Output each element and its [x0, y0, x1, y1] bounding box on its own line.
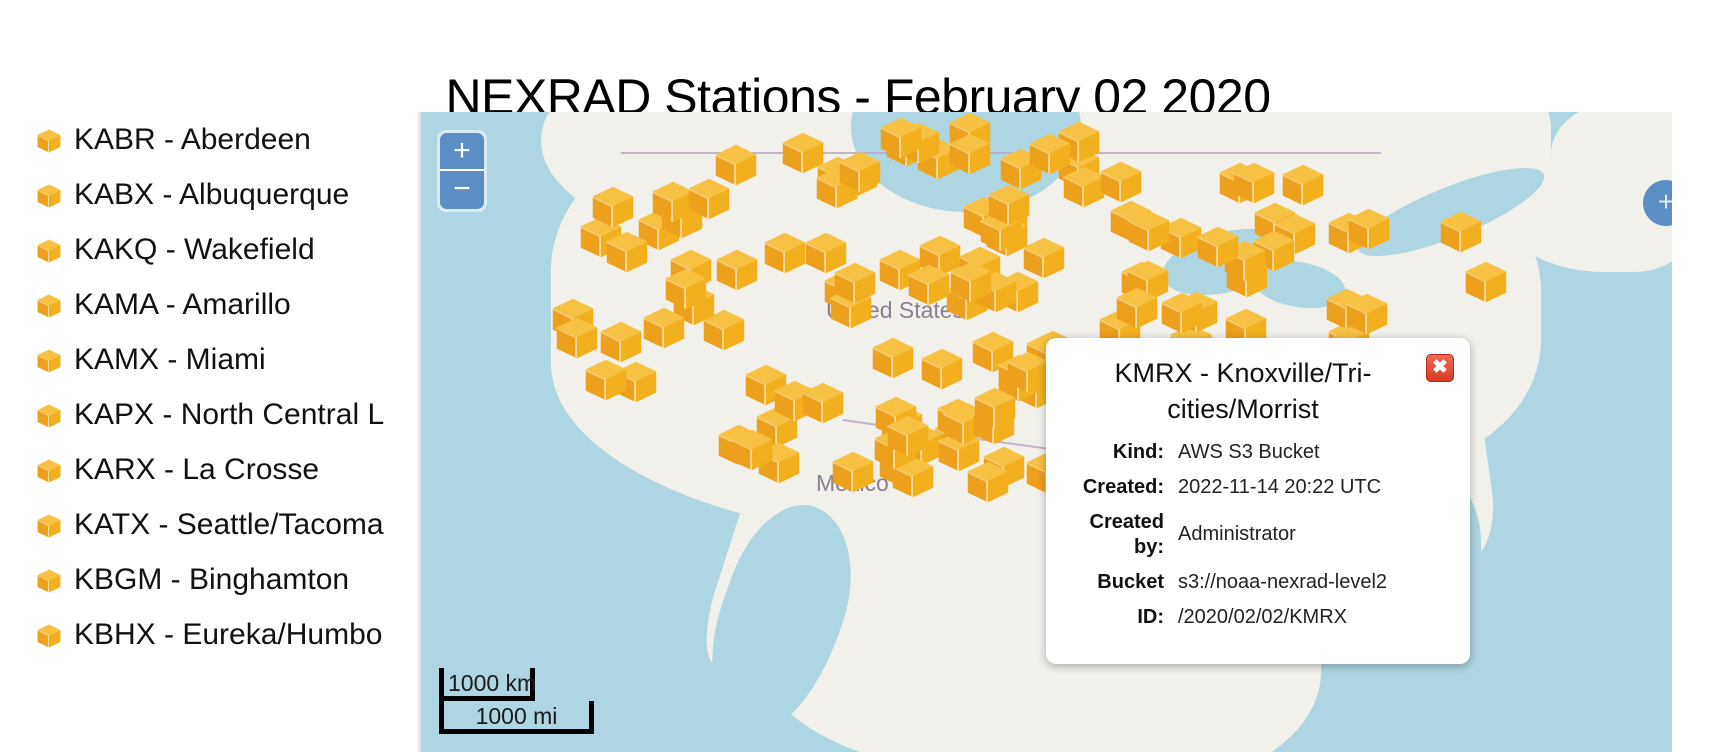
- close-icon[interactable]: ✖: [1426, 354, 1454, 382]
- map-marker-s3-bucket-icon[interactable]: [1438, 209, 1484, 255]
- map-marker-s3-bucket-icon[interactable]: [590, 184, 636, 230]
- map-marker-s3-bucket-icon[interactable]: [830, 449, 876, 495]
- s3-bucket-icon: [36, 183, 62, 209]
- map-marker-s3-bucket-icon[interactable]: [780, 130, 826, 176]
- station-list-item[interactable]: KAKQ - Wakefield: [0, 222, 418, 277]
- station-list-item-label: KBGM - Binghamton: [74, 565, 349, 595]
- popup-detail-value: AWS S3 Bucket: [1178, 440, 1448, 465]
- s3-bucket-icon: [36, 568, 62, 594]
- map-marker-s3-bucket-icon[interactable]: [1280, 162, 1326, 208]
- s3-bucket-icon: [36, 403, 62, 429]
- map-marker-s3-bucket-icon[interactable]: [885, 413, 931, 459]
- zoom-control: + −: [437, 130, 487, 212]
- station-list-item[interactable]: KATX - Seattle/Tacoma: [0, 497, 418, 552]
- popup-detail-key: Created:: [1068, 475, 1178, 500]
- map-marker-s3-bucket-icon[interactable]: [1098, 159, 1144, 205]
- scale-bar-km: 1000 km: [439, 668, 535, 701]
- app-root: NEXRAD Stations - February 02 2020 KABR …: [0, 0, 1716, 752]
- popup-detail-rows: Kind:AWS S3 BucketCreated:2022-11-14 20:…: [1068, 440, 1448, 630]
- s3-bucket-icon: [36, 238, 62, 264]
- map-marker-s3-bucket-icon[interactable]: [906, 262, 952, 308]
- popup-detail-row: ID:/2020/02/02/KMRX: [1068, 605, 1448, 630]
- map-marker-s3-bucket-icon[interactable]: [948, 259, 994, 305]
- s3-bucket-icon: [36, 348, 62, 374]
- station-list-sidebar[interactable]: KABR - AberdeenKABX - AlbuquerqueKAKQ - …: [0, 112, 418, 752]
- popup-detail-row: Created:2022-11-14 20:22 UTC: [1068, 475, 1448, 500]
- station-list-item-label: KARX - La Crosse: [74, 455, 319, 485]
- map-marker-s3-bucket-icon[interactable]: [1346, 206, 1392, 252]
- map-marker-s3-bucket-icon[interactable]: [878, 115, 924, 161]
- map-canvas[interactable]: United States México + − + 1000 km 1000 …: [418, 112, 1672, 752]
- map-marker-s3-bucket-icon[interactable]: [1195, 224, 1241, 270]
- station-list-item-label: KAMA - Amarillo: [74, 290, 291, 320]
- map-right-gutter: [1672, 112, 1716, 752]
- station-list-item[interactable]: KAMX - Miami: [0, 332, 418, 387]
- station-list-item-label: KAKQ - Wakefield: [74, 235, 315, 265]
- station-list-item-label: KABR - Aberdeen: [74, 125, 311, 155]
- zoom-out-button[interactable]: −: [440, 171, 484, 209]
- popup-detail-key: Bucket: [1068, 570, 1178, 595]
- station-list-item-label: KBHX - Eureka/Humbo: [74, 620, 382, 650]
- map-marker-s3-bucket-icon[interactable]: [1114, 285, 1160, 331]
- map-marker-s3-bucket-icon[interactable]: [947, 131, 993, 177]
- station-list-item-label: KATX - Seattle/Tacoma: [74, 510, 384, 540]
- map-marker-s3-bucket-icon[interactable]: [1231, 160, 1277, 206]
- map-marker-s3-bucket-icon[interactable]: [554, 315, 600, 361]
- scale-bar-mi: 1000 mi: [439, 701, 594, 734]
- map-marker-s3-bucket-icon[interactable]: [972, 385, 1018, 431]
- station-detail-popup: ✖ KMRX - Knoxville/Tri-cities/Morrist Ki…: [1046, 338, 1470, 664]
- map-marker-s3-bucket-icon[interactable]: [803, 230, 849, 276]
- map-marker-s3-bucket-icon[interactable]: [986, 182, 1032, 228]
- map-marker-s3-bucket-icon[interactable]: [686, 176, 732, 222]
- scale-bar-km-label: 1000 km: [448, 670, 536, 696]
- popup-detail-row: Created by:Administrator: [1068, 510, 1448, 560]
- popup-detail-row: Buckets3://noaa-nexrad-level2: [1068, 570, 1448, 595]
- s3-bucket-icon: [36, 128, 62, 154]
- map-marker-s3-bucket-icon[interactable]: [583, 357, 629, 403]
- station-list-item[interactable]: KAPX - North Central L: [0, 387, 418, 442]
- map-marker-s3-bucket-icon[interactable]: [714, 247, 760, 293]
- map-marker-s3-bucket-icon[interactable]: [1126, 208, 1172, 254]
- station-list-item-label: KAMX - Miami: [74, 345, 266, 375]
- station-list-item[interactable]: KABX - Albuquerque: [0, 167, 418, 222]
- station-list-item-label: KAPX - North Central L: [74, 400, 384, 430]
- station-list-item[interactable]: KAMA - Amarillo: [0, 277, 418, 332]
- popup-detail-key: ID:: [1068, 605, 1178, 630]
- map-marker-s3-bucket-icon[interactable]: [663, 266, 709, 312]
- station-list-item[interactable]: KARX - La Crosse: [0, 442, 418, 497]
- station-list-item[interactable]: KBHX - Eureka/Humbo: [0, 607, 418, 662]
- popup-title: KMRX - Knoxville/Tri-cities/Morrist: [1068, 356, 1448, 428]
- map-marker-s3-bucket-icon[interactable]: [919, 346, 965, 392]
- map-marker-s3-bucket-icon[interactable]: [870, 335, 916, 381]
- s3-bucket-icon: [36, 513, 62, 539]
- popup-detail-value: s3://noaa-nexrad-level2: [1178, 570, 1448, 595]
- station-list-item[interactable]: KBGM - Binghamton: [0, 552, 418, 607]
- map-marker-s3-bucket-icon[interactable]: [965, 459, 1011, 505]
- map-marker-s3-bucket-icon[interactable]: [762, 230, 808, 276]
- s3-bucket-icon: [36, 293, 62, 319]
- popup-detail-row: Kind:AWS S3 Bucket: [1068, 440, 1448, 465]
- s3-bucket-icon: [36, 623, 62, 649]
- popup-detail-value: 2022-11-14 20:22 UTC: [1178, 475, 1448, 500]
- s3-bucket-icon: [36, 458, 62, 484]
- scale-bar-mi-label: 1000 mi: [476, 703, 558, 729]
- popup-detail-value: /2020/02/02/KMRX: [1178, 605, 1448, 630]
- popup-detail-key: Created by:: [1068, 510, 1178, 560]
- map-marker-s3-bucket-icon[interactable]: [800, 380, 846, 426]
- zoom-in-button[interactable]: +: [440, 133, 484, 171]
- station-list-item-label: KABX - Albuquerque: [74, 180, 349, 210]
- map-marker-s3-bucket-icon[interactable]: [1463, 259, 1509, 305]
- station-list-item[interactable]: KABR - Aberdeen: [0, 112, 418, 167]
- scale-bar: 1000 km 1000 mi: [439, 668, 594, 734]
- map-marker-s3-bucket-icon[interactable]: [641, 305, 687, 351]
- map-marker-s3-bucket-icon[interactable]: [837, 149, 883, 195]
- popup-detail-value: Administrator: [1178, 522, 1448, 547]
- popup-detail-key: Kind:: [1068, 440, 1178, 465]
- map-marker-s3-bucket-icon[interactable]: [604, 229, 650, 275]
- map-marker-s3-bucket-icon[interactable]: [1027, 131, 1073, 177]
- map-marker-s3-bucket-icon[interactable]: [729, 427, 775, 473]
